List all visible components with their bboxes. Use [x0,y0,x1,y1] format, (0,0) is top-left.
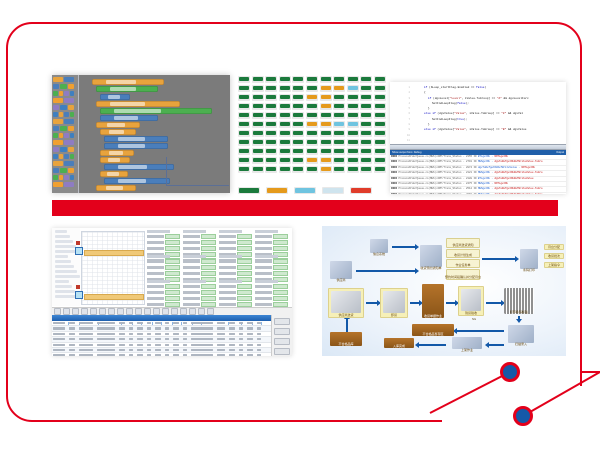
palette-chip[interactable] [53,126,59,131]
sidebar-item[interactable] [55,255,68,258]
code-block[interactable] [96,122,140,128]
status-cell[interactable] [252,103,264,110]
palette-chip[interactable] [53,147,59,152]
palette-chip[interactable] [53,91,58,96]
parameter-value[interactable] [273,265,288,270]
toolbar-button[interactable] [117,308,124,315]
toolbar-button[interactable] [72,308,79,315]
status-cell[interactable] [292,76,304,83]
status-cell[interactable] [333,112,345,119]
flow-node-scanner-station[interactable]: 信息系统 [368,236,390,256]
sidebar-item[interactable] [55,245,76,248]
status-cell[interactable] [374,130,386,137]
status-cell[interactable] [252,139,264,146]
status-cell[interactable] [320,166,332,173]
sidebar-item[interactable] [55,275,80,278]
flow-node-doc-box[interactable]: 收货单据作业 [422,284,444,318]
status-cell[interactable] [320,85,332,92]
status-cell[interactable] [265,148,277,155]
status-cell[interactable] [292,148,304,155]
status-cell[interactable] [320,148,332,155]
status-cell[interactable] [238,166,250,173]
palette-row[interactable] [53,105,77,110]
status-cell[interactable] [306,103,318,110]
palette-chip[interactable] [64,182,74,187]
code-line[interactable]: else if (dgvValue["Value", iValue.ToGrou… [412,127,564,132]
palette-chip[interactable] [53,140,63,145]
palette-chip[interactable] [59,91,64,96]
status-cell[interactable] [306,166,318,173]
parameter-value[interactable] [273,234,288,239]
status-cell[interactable] [360,157,372,164]
toolbar-button[interactable] [90,308,97,315]
status-cell[interactable] [279,121,291,128]
flow-node-reject-store[interactable]: 不合格品库 [330,332,362,346]
status-cell[interactable] [292,85,304,92]
palette-row[interactable] [53,126,77,131]
status-cell[interactable] [374,166,386,173]
sidebar-item[interactable] [55,260,71,263]
status-cell[interactable] [360,103,372,110]
status-cell[interactable] [252,166,264,173]
palette-chip[interactable] [64,98,74,103]
palette-chip[interactable] [64,161,74,166]
code-block[interactable] [104,178,170,184]
palette-chip[interactable] [53,84,59,89]
parameter-value[interactable] [165,265,180,270]
status-cell[interactable] [238,76,250,83]
palette-chip[interactable] [53,133,58,138]
status-cell[interactable] [360,166,372,173]
status-cell[interactable] [347,112,359,119]
status-cell[interactable] [279,112,291,119]
status-cell[interactable] [265,103,277,110]
status-cell[interactable] [320,139,332,146]
status-cell[interactable] [320,112,332,119]
toolbar-button[interactable] [153,308,160,315]
parameter-value[interactable] [165,240,180,245]
status-cell[interactable] [265,112,277,119]
palette-chip[interactable] [53,119,63,124]
status-cell[interactable] [360,76,372,83]
status-cell[interactable] [333,103,345,110]
palette-row[interactable] [53,161,77,166]
parameter-value[interactable] [201,259,216,264]
side-action-button[interactable] [274,348,290,355]
toolbar-button[interactable] [189,308,196,315]
status-cell[interactable] [320,157,332,164]
sidebar-item[interactable] [55,290,75,293]
gantt-node[interactable] [75,291,83,299]
status-cell[interactable] [306,85,318,92]
code-block[interactable] [100,129,136,135]
parameter-value[interactable] [201,240,216,245]
parameter-value[interactable] [165,259,180,264]
status-cell[interactable] [292,121,304,128]
palette-row[interactable] [53,147,77,152]
parameter-value[interactable] [237,271,252,276]
status-cell[interactable] [306,157,318,164]
toolbar-button[interactable] [135,308,142,315]
status-cell[interactable] [279,76,291,83]
palette-chip[interactable] [64,140,74,145]
flow-node-notice-card[interactable]: 供应商送货通知 [446,238,480,248]
toolbar-button[interactable] [63,308,70,315]
production-scheduler-panel[interactable] [52,228,292,356]
parameter-value[interactable] [237,234,252,239]
status-cell[interactable] [347,139,359,146]
status-cell[interactable] [306,76,318,83]
code-block[interactable] [100,115,158,121]
palette-chip[interactable] [60,126,66,131]
palette-chip[interactable] [60,168,66,173]
status-cell[interactable] [333,94,345,101]
palette-chip[interactable] [59,154,64,159]
palette-row[interactable] [53,133,77,138]
palette-chip[interactable] [68,147,74,152]
status-cell[interactable] [374,85,386,92]
palette-chip[interactable] [53,112,58,117]
status-cell[interactable] [306,112,318,119]
parameter-value[interactable] [201,284,216,289]
parameter-value[interactable] [273,284,288,289]
status-cell[interactable] [347,166,359,173]
table-row[interactable] [52,353,292,356]
status-cell[interactable] [360,94,372,101]
code-block[interactable] [100,150,134,156]
parameter-value[interactable] [273,271,288,276]
palette-chip[interactable] [53,105,59,110]
status-cell[interactable] [292,112,304,119]
block-palette[interactable] [52,75,79,193]
status-cell[interactable] [347,157,359,164]
status-cell[interactable] [374,112,386,119]
flow-node-tag1[interactable]: 月台分配 [544,244,564,250]
status-cell[interactable] [292,139,304,146]
status-cell[interactable] [238,157,250,164]
code-block[interactable] [100,94,130,100]
warehouse-flow-panel[interactable]: NG 供应商信息系统收货预约通知单供应商送货通知收货计划生成作业任务单预约时间段… [322,226,566,356]
toolbar-button[interactable] [207,308,214,315]
code-block[interactable] [104,136,168,142]
parameter-value[interactable] [201,234,216,239]
sidebar-item[interactable] [55,230,67,233]
parameter-value[interactable] [165,246,180,251]
palette-chip[interactable] [53,98,63,103]
status-cell[interactable] [238,130,250,137]
status-cell[interactable] [333,157,345,164]
status-cell[interactable] [292,157,304,164]
palette-chip[interactable] [64,91,69,96]
status-cell[interactable] [333,148,345,155]
palette-chip[interactable] [70,112,75,117]
palette-chip[interactable] [53,161,63,166]
status-cell[interactable] [347,103,359,110]
status-cell[interactable] [279,130,291,137]
parameter-value[interactable] [201,265,216,270]
palette-row[interactable] [53,154,77,159]
parameter-value[interactable] [237,290,252,295]
flow-node-forklift[interactable]: 卸货 [380,288,408,318]
palette-chip[interactable] [64,175,69,180]
flow-node-putaway[interactable]: 上架作业 [450,334,484,352]
status-cell[interactable] [360,112,372,119]
palette-chip[interactable] [70,175,75,180]
parameter-value[interactable] [237,284,252,289]
gantt-chart[interactable] [81,231,145,305]
status-cell[interactable] [347,76,359,83]
palette-chip[interactable] [68,105,74,110]
palette-chip[interactable] [70,154,75,159]
status-cell[interactable] [265,94,277,101]
status-cell[interactable] [265,85,277,92]
status-cell[interactable] [374,103,386,110]
flow-node-supplier-desk[interactable]: 供应商 [328,258,354,282]
parameter-value[interactable] [237,240,252,245]
code-block[interactable] [104,164,174,170]
parameter-value[interactable] [165,271,180,276]
parameter-value[interactable] [273,240,288,245]
status-grid-panel[interactable] [236,74,388,196]
status-cell[interactable] [333,139,345,146]
status-cell[interactable] [265,139,277,146]
status-cell[interactable] [347,130,359,137]
status-cell[interactable] [306,148,318,155]
flow-node-appoint-card[interactable]: 预约时间段确认并分配月台 [446,269,480,280]
palette-chip[interactable] [60,84,66,89]
status-cell[interactable] [252,112,264,119]
palette-chip[interactable] [70,133,75,138]
palette-chip[interactable] [68,84,74,89]
code-block[interactable] [92,79,164,85]
status-cell[interactable] [238,148,250,155]
status-cell[interactable] [347,121,359,128]
status-cell[interactable] [238,103,250,110]
status-cell[interactable] [279,139,291,146]
palette-chip[interactable] [64,133,69,138]
visual-block-editor-panel[interactable] [52,75,230,193]
palette-row[interactable] [53,175,77,180]
parameter-value[interactable] [165,290,180,295]
status-cell[interactable] [292,94,304,101]
palette-chip[interactable] [64,77,74,82]
code-block[interactable] [96,86,158,92]
parameter-value[interactable] [201,290,216,295]
code-lines[interactable]: if (bLoop_startFlag.Enabled == false){if… [412,85,564,133]
status-cell[interactable] [374,121,386,128]
status-cell[interactable] [320,130,332,137]
flow-node-label-print[interactable]: 打印条码标签 [504,288,534,314]
gantt-node[interactable] [75,247,83,255]
grid-side-buttons[interactable] [271,315,292,356]
toolbar-button[interactable] [108,308,115,315]
status-cell[interactable] [252,130,264,137]
code-text-area[interactable]: 1234567891011 if (bLoop_startFlag.Enable… [390,82,566,145]
status-cell[interactable] [279,103,291,110]
palette-chip[interactable] [59,133,64,138]
flow-node-inspect[interactable]: 到货验收 [458,286,484,316]
status-cell[interactable] [333,130,345,137]
status-cell[interactable] [252,121,264,128]
palette-chip[interactable] [68,168,74,173]
parameter-value[interactable] [201,271,216,276]
output-console[interactable]: Show output from: Debug Output INFO Proc… [390,144,566,194]
palette-chip[interactable] [53,175,58,180]
code-block[interactable] [100,108,212,114]
sidebar-item[interactable] [55,240,73,243]
palette-chip[interactable] [60,105,66,110]
status-cell[interactable] [320,103,332,110]
status-cell[interactable] [265,166,277,173]
status-cell[interactable] [360,130,372,137]
status-cell[interactable] [360,85,372,92]
sidebar-item[interactable] [55,270,77,273]
status-cell[interactable] [360,121,372,128]
status-cell[interactable] [252,85,264,92]
code-block[interactable] [96,101,180,107]
palette-row[interactable] [53,182,77,187]
status-cell[interactable] [333,166,345,173]
status-cell[interactable] [374,139,386,146]
block-canvas[interactable] [82,75,230,193]
parameter-value[interactable] [237,265,252,270]
palette-chip[interactable] [53,77,63,82]
status-cell[interactable] [238,139,250,146]
parameter-panel[interactable] [147,230,290,304]
palette-chip[interactable] [64,119,74,124]
status-cell[interactable] [374,76,386,83]
sidebar-item[interactable] [55,280,69,283]
palette-chip[interactable] [59,112,64,117]
console-log-list[interactable]: INFO ProcessOrderQueue.cs(MES)/APP/Trans… [390,155,566,194]
flow-node-printer[interactable]: 条码打印 [518,246,540,272]
status-cell[interactable] [238,112,250,119]
palette-chip[interactable] [53,168,59,173]
status-cell[interactable] [333,85,345,92]
parameter-value[interactable] [273,290,288,295]
status-cell[interactable] [347,148,359,155]
status-cell[interactable] [238,85,250,92]
palette-chip[interactable] [70,91,75,96]
status-cell[interactable] [265,121,277,128]
status-cell[interactable] [252,148,264,155]
flow-node-done[interactable]: 入库完成 [384,338,414,348]
status-cell[interactable] [347,94,359,101]
palette-chip[interactable] [68,126,74,131]
status-cell[interactable] [306,130,318,137]
status-cell[interactable] [320,121,332,128]
status-cell[interactable] [360,148,372,155]
status-cell[interactable] [347,85,359,92]
code-block[interactable] [96,185,136,191]
status-cell[interactable] [292,103,304,110]
status-cell[interactable] [279,94,291,101]
parameter-value[interactable] [201,246,216,251]
status-cell[interactable] [333,76,345,83]
toolbar-button[interactable] [198,308,205,315]
status-cell[interactable] [292,166,304,173]
palette-row[interactable] [53,91,77,96]
flow-node-truck[interactable]: 供应商送货 [328,288,364,318]
flow-node-plan-card[interactable]: 收货计划生成 [446,249,480,258]
parameter-value[interactable] [165,296,180,301]
parameter-value[interactable] [201,296,216,301]
palette-row[interactable] [53,119,77,124]
status-cell[interactable] [265,76,277,83]
palette-row[interactable] [53,140,77,145]
flow-node-erp-terminal[interactable]: 收货预约通知单 [418,242,444,270]
palette-chip[interactable] [53,154,58,159]
palette-chip[interactable] [64,112,69,117]
parameter-value[interactable] [237,296,252,301]
code-block[interactable] [100,157,130,163]
status-cell[interactable] [320,76,332,83]
status-cell[interactable] [306,121,318,128]
toolbar-button[interactable] [162,308,169,315]
status-cell[interactable] [265,157,277,164]
parameter-value[interactable] [273,259,288,264]
status-cell[interactable] [238,94,250,101]
code-block[interactable] [100,171,128,177]
palette-chip[interactable] [59,175,64,180]
status-cell[interactable] [374,94,386,101]
status-cell[interactable] [320,94,332,101]
parameter-value[interactable] [237,259,252,264]
palette-row[interactable] [53,84,77,89]
sidebar-item[interactable] [55,265,74,268]
palette-row[interactable] [53,112,77,117]
toolbar-button[interactable] [144,308,151,315]
toolbar-button[interactable] [171,308,178,315]
gantt-bar[interactable] [84,250,144,256]
status-cell[interactable] [292,130,304,137]
status-cell[interactable] [306,139,318,146]
palette-chip[interactable] [60,147,66,152]
toolbar-button[interactable] [180,308,187,315]
parameter-value[interactable] [273,296,288,301]
flow-node-dock-card[interactable]: 作业任务单 [446,259,480,268]
toolbar-button[interactable] [99,308,106,315]
status-cell-grid[interactable] [238,76,386,173]
status-cell[interactable] [374,157,386,164]
status-cell[interactable] [265,130,277,137]
palette-row[interactable] [53,77,77,82]
status-cell[interactable] [279,148,291,155]
side-action-button[interactable] [274,328,290,335]
palette-chip[interactable] [64,154,69,159]
flow-node-tag3[interactable]: 上架指令 [544,262,564,268]
flow-node-scan-in[interactable]: 扫描录入 [506,322,536,346]
status-cell[interactable] [374,148,386,155]
status-cell[interactable] [279,85,291,92]
status-cell[interactable] [306,94,318,101]
toolbar-button[interactable] [54,308,61,315]
code-block[interactable] [104,143,168,149]
status-cell[interactable] [252,94,264,101]
toolbar-button[interactable] [126,308,133,315]
status-cell[interactable] [279,157,291,164]
palette-row[interactable] [53,168,77,173]
parameter-value[interactable] [165,284,180,289]
data-grid-body[interactable] [52,321,292,356]
side-action-button[interactable] [274,318,290,325]
palette-chip[interactable] [53,182,63,187]
parameter-value[interactable] [273,246,288,251]
toolbar-button[interactable] [81,308,88,315]
code-editor-panel[interactable]: 1234567891011 if (bLoop_startFlag.Enable… [390,82,566,194]
gantt-bar[interactable] [84,294,144,300]
flow-node-tag2[interactable]: 收货批次 [544,253,564,259]
